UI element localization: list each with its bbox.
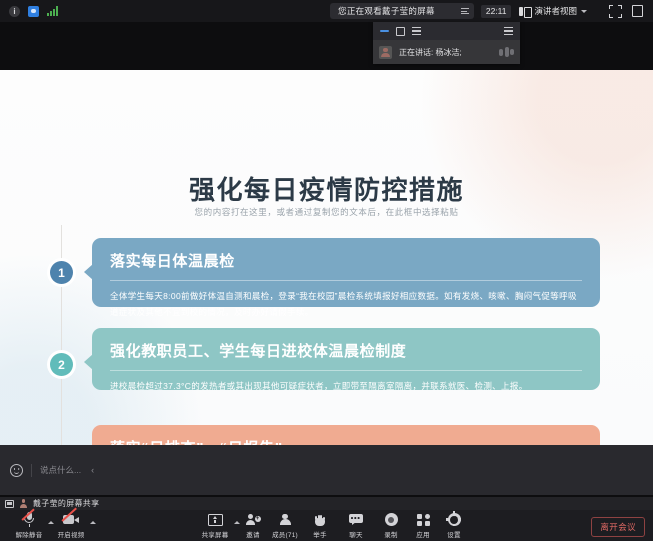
view-mode-selector[interactable]: 演讲者视图	[519, 5, 587, 17]
card-title: 强化教职员工、学生每日进校体温晨检制度	[110, 340, 582, 361]
speaker-view-icon	[519, 7, 530, 16]
gear-icon	[448, 512, 461, 527]
viewing-notice-pill[interactable]: 您正在观看戴子莹的屏幕	[330, 3, 474, 19]
share-screen-icon	[208, 512, 223, 527]
apps-icon	[417, 512, 430, 527]
chevron-up-icon[interactable]	[90, 521, 96, 524]
record-icon	[385, 512, 398, 527]
toolbar-unmute-button[interactable]: 解除静音	[6, 512, 52, 540]
timeline-line	[61, 225, 62, 445]
share-status-text: 戴子莹的屏幕共享	[33, 498, 99, 509]
card-divider	[110, 280, 582, 281]
screen-share-status-bar: 戴子莹的屏幕共享	[0, 497, 653, 510]
window-icon[interactable]	[632, 5, 645, 18]
toolbar-label: 共享屏幕	[202, 529, 229, 539]
top-bar-left-icons: i	[0, 6, 58, 17]
screen-icon	[5, 500, 14, 508]
step-badge-1: 1	[50, 261, 73, 284]
collapse-chat-icon[interactable]: ‹	[91, 465, 94, 475]
view-mode-label: 演讲者视图	[534, 5, 577, 17]
chat-bubble-icon	[349, 512, 363, 527]
toolbar-label: 举手	[313, 529, 326, 539]
toolbar-label: 聊天	[349, 529, 362, 539]
network-signal-icon[interactable]	[47, 6, 58, 16]
person-icon	[19, 499, 28, 508]
participants-icon	[278, 512, 292, 527]
chat-input-bar[interactable]: 说点什么... ‹	[0, 445, 653, 495]
card-body: 全体学生每天8:00前做好体温自测和晨检，登录“我在校园”晨检系统填报好相应数据…	[110, 289, 582, 320]
zoom-meeting-window: i 您正在观看戴子莹的屏幕 22:11 演讲者视图	[0, 0, 653, 541]
toolbar-settings-button[interactable]: 设置	[431, 512, 477, 540]
floating-panel-titlebar	[373, 22, 520, 40]
toolbar-label: 应用	[416, 529, 429, 539]
card-title: 落实“日排查”、“日报告”	[110, 437, 582, 445]
card-divider	[110, 370, 582, 371]
slide-card-1: 落实每日体温晨检 全体学生每天8:00前做好体温自测和晨检，登录“我在校园”晨检…	[92, 238, 600, 307]
leave-meeting-button[interactable]: 离开会议	[591, 517, 645, 537]
expand-icon[interactable]	[609, 5, 622, 18]
toolbar-label: 设置	[447, 529, 460, 539]
top-bar-right-controls: 您正在观看戴子莹的屏幕 22:11 演讲者视图	[330, 0, 653, 22]
info-icon[interactable]: i	[9, 6, 20, 17]
invite-icon: +	[246, 512, 261, 527]
divider	[31, 464, 32, 477]
card-title: 落实每日体温晨检	[110, 250, 582, 271]
toolbar-label: 录制	[384, 529, 397, 539]
slide-card-2: 强化教职员工、学生每日进校体温晨检制度 进校晨检超过37.3°C的发热者或其出现…	[92, 328, 600, 390]
audio-wave-icon	[499, 47, 514, 57]
toolbar-label: 邀请	[246, 529, 259, 539]
top-bar: i 您正在观看戴子莹的屏幕 22:11 演讲者视图	[0, 0, 653, 22]
card-body: 进校晨检超过37.3°C的发热者或其出现其他可疑症状者，立即带至隔离室隔离，并联…	[110, 379, 582, 395]
clock: 22:11	[481, 5, 512, 18]
meeting-toolbar: 解除静音 开启视频 共享屏幕	[0, 510, 653, 541]
toolbar-video-button[interactable]: 开启视频	[48, 512, 94, 540]
list-icon[interactable]	[412, 27, 421, 35]
toolbar-label: 解除静音	[16, 529, 43, 539]
chat-input[interactable]: 说点什么...	[40, 464, 81, 476]
menu-icon[interactable]	[461, 8, 469, 14]
slide-card-3: 落实“日排查”、“日报告” 各校区每日按上级要求和指令，排查各类信息，落实“日排…	[92, 425, 600, 445]
shared-screen-stage[interactable]: 强化每日疫情防控措施 您的内容打在这里，或者通过复制您的文本后，在此框中选择粘贴…	[0, 70, 653, 445]
viewing-notice-text: 您正在观看戴子莹的屏幕	[338, 5, 435, 17]
minimize-icon[interactable]	[380, 30, 389, 33]
step-badge-2: 2	[50, 353, 73, 376]
raise-hand-icon	[315, 512, 326, 527]
toolbar-label: 成员(71)	[272, 529, 298, 539]
active-speaker-row[interactable]: 正在讲话: 杨冰洁;	[373, 40, 520, 64]
speaking-label: 正在讲话: 杨冰洁;	[399, 47, 462, 58]
floating-participant-panel[interactable]: 正在讲话: 杨冰洁;	[373, 22, 520, 64]
microphone-muted-icon	[24, 512, 35, 527]
avatar	[379, 46, 392, 59]
chevron-down-icon[interactable]	[581, 10, 587, 13]
camera-off-icon	[63, 512, 79, 527]
emoji-icon[interactable]	[10, 464, 23, 477]
toolbar-label: 开启视频	[58, 529, 85, 539]
slide-title: 强化每日疫情防控措施	[0, 170, 653, 207]
panel-menu-icon[interactable]	[504, 27, 513, 35]
slide-subtitle: 您的内容打在这里，或者通过复制您的文本后，在此框中选择粘贴	[0, 206, 653, 218]
maximize-icon[interactable]	[396, 27, 405, 36]
recording-icon[interactable]	[28, 6, 39, 17]
